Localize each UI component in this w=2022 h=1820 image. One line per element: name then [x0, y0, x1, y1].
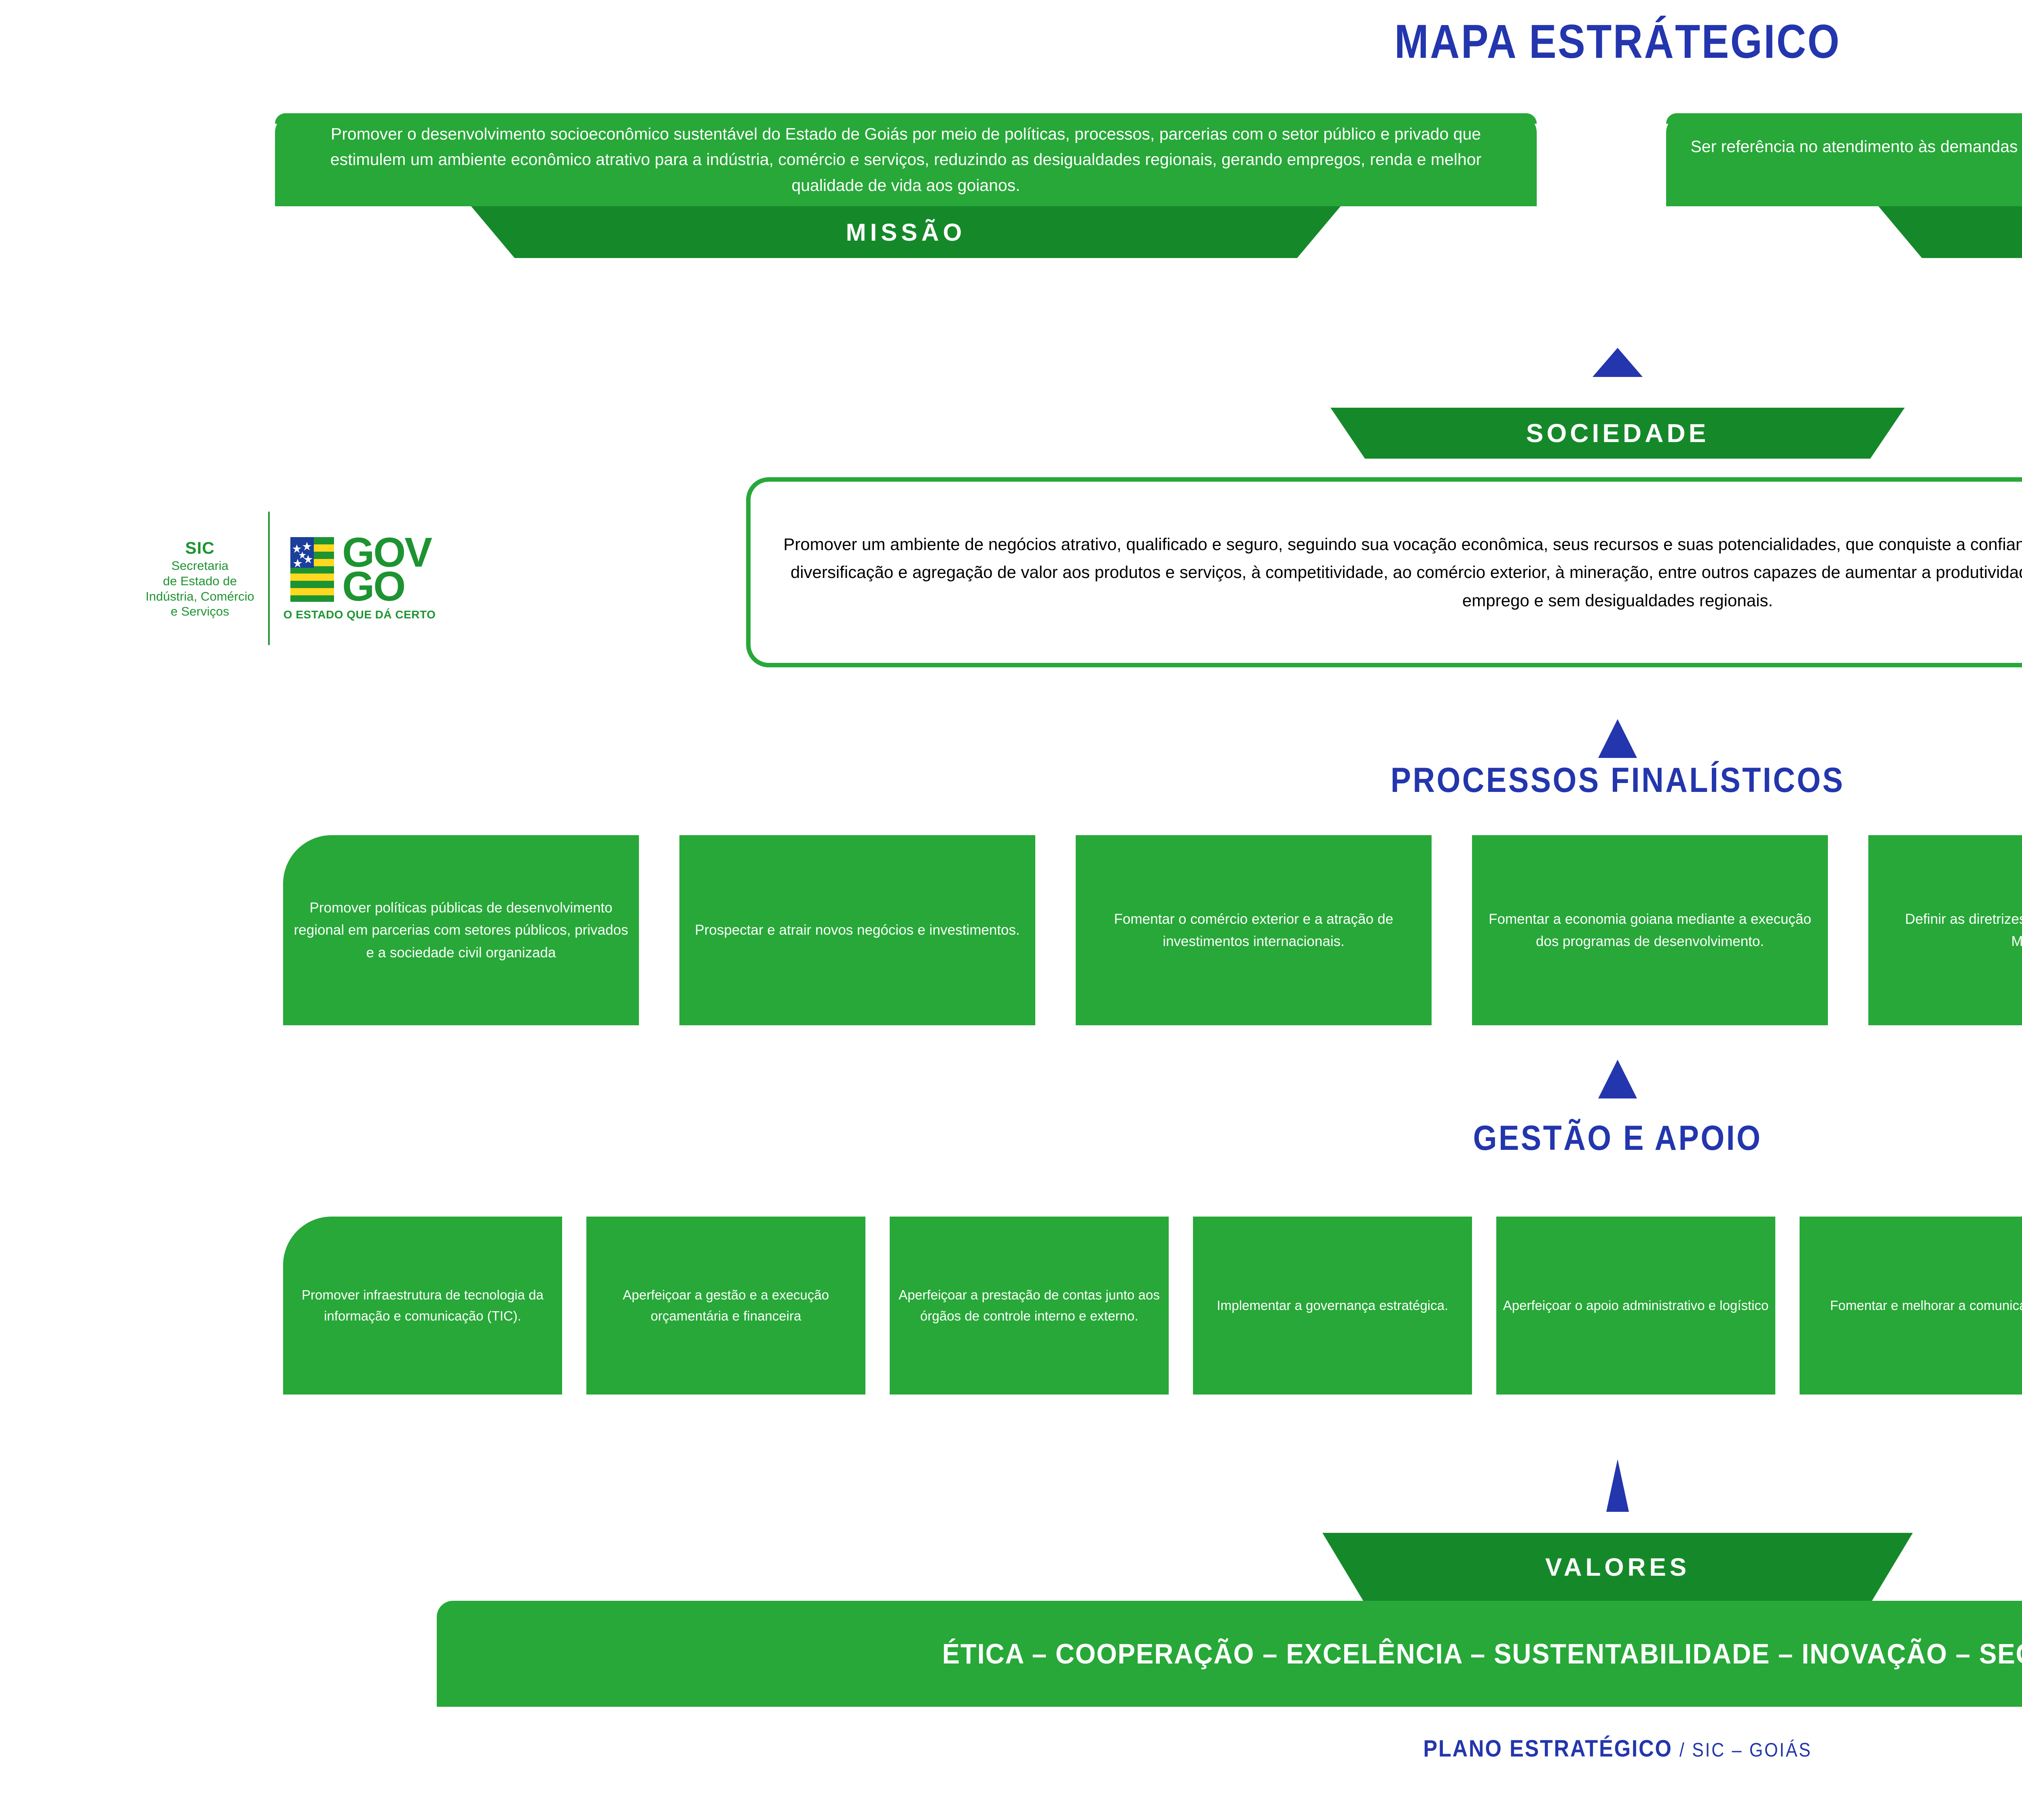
processos-row: Promover políticas públicas de desenvolv…: [283, 835, 2022, 1025]
mission-block: Promover o desenvolvimento socioeconômic…: [275, 113, 1537, 258]
processo-pillar-5-text: Definir as diretrizes para Política Esta…: [1875, 908, 2022, 953]
mission-banner-label: MISSÃO: [846, 218, 966, 246]
gestao-pillar-3[interactable]: Aperfeiçoar a prestação de contas junto …: [890, 1217, 1169, 1395]
sic-line-1: Secretaria: [146, 558, 254, 574]
sociedade-text: Promover um ambiente de negócios atrativ…: [776, 530, 2022, 614]
vision-banner: VISÃO: [1878, 206, 2022, 258]
gestao-header: GESTÃO E APOIO: [194, 1118, 2022, 1158]
footer-caption: PLANO ESTRATÉGICO / SIC – GOIÁS: [162, 1735, 2022, 1762]
sociedade-banner: SOCIEDADE: [1330, 408, 1905, 459]
processo-pillar-2[interactable]: Prospectar e atrair novos negócios e inv…: [679, 835, 1035, 1025]
gestao-pillar-4[interactable]: Implementar a governança estratégica.: [1193, 1217, 1472, 1395]
gestao-pillar-5-text: Aperfeiçoar o apoio administrativo e log…: [1503, 1295, 1769, 1316]
processo-pillar-3[interactable]: Fomentar o comércio exterior e a atração…: [1076, 835, 1432, 1025]
gestao-pillar-1-text: Promover infraestrutura de tecnologia da…: [290, 1285, 556, 1327]
govgo-row-left: GOV GO: [288, 535, 431, 604]
mission-banner: MISSÃO: [471, 206, 1341, 258]
arrow-up-to-processos: [1598, 719, 1637, 758]
processo-pillar-4-text: Fomentar a economia goiana mediante a ex…: [1478, 908, 1821, 953]
processos-header: PROCESSOS FINALÍSTICOS: [194, 760, 2022, 800]
processo-pillar-1-text: Promover políticas públicas de desenvolv…: [290, 897, 632, 964]
mission-box: Promover o desenvolvimento socioeconômic…: [275, 113, 1537, 206]
processo-pillar-4[interactable]: Fomentar a economia goiana mediante a ex…: [1472, 835, 1828, 1025]
arrow-up-to-gestao: [1598, 1060, 1637, 1098]
sic-acronym: SIC: [146, 538, 254, 558]
footer-suffix: / SIC – GOIÁS: [1679, 1740, 1812, 1761]
valores-banner-label: VALORES: [1545, 1553, 1690, 1582]
gestao-row: Promover infraestrutura de tecnologia da…: [283, 1217, 2022, 1395]
valores-text: ÉTICA – COOPERAÇÃO – EXCELÊNCIA – SUSTEN…: [942, 1638, 2022, 1670]
vision-box: Ser referência no atendimento às demanda…: [1666, 113, 2022, 206]
gestao-pillar-6[interactable]: Fomentar e melhorar a comunicação: [1800, 1217, 2022, 1395]
sociedade-box: Promover um ambiente de negócios atrativ…: [746, 477, 2022, 667]
mission-text: Promover o desenvolvimento socioeconômic…: [296, 121, 1516, 199]
sociedade-banner-label: SOCIEDADE: [1526, 418, 1709, 448]
govgo-logo-left: GOV GO O ESTADO QUE DÁ CERTO: [283, 535, 436, 622]
sic-line-3: Indústria, Comércio: [146, 589, 254, 604]
arrow-up-to-valores: [1606, 1459, 1629, 1512]
vision-block: Ser referência no atendimento às demanda…: [1666, 113, 2022, 258]
strategic-map-canvas: MAPA ESTRÁTEGICO Promover o desenvolvime…: [0, 0, 2022, 1820]
sic-line-4: e Serviços: [146, 604, 254, 619]
page-title: MAPA ESTRÁTEGICO: [226, 14, 2022, 69]
govgo-wordmark-left: GOV GO: [342, 535, 431, 604]
goias-flag-icon: [288, 535, 340, 603]
gestao-pillar-2-text: Aperfeiçoar a gestão e a execução orçame…: [593, 1285, 859, 1327]
valores-banner: VALORES: [1322, 1533, 1913, 1602]
vision-text: Ser referência no atendimento às demanda…: [1687, 134, 2022, 185]
processo-pillar-1[interactable]: Promover políticas públicas de desenvolv…: [283, 835, 639, 1025]
gestao-pillar-2[interactable]: Aperfeiçoar a gestão e a execução orçame…: [586, 1217, 865, 1395]
processo-pillar-2-text: Prospectar e atrair novos negócios e inv…: [695, 919, 1019, 941]
footer-main: PLANO ESTRATÉGICO: [1423, 1735, 1672, 1762]
sic-text-block-left: SIC Secretaria de Estado de Indústria, C…: [146, 538, 254, 619]
gestao-pillar-6-text: Fomentar e melhorar a comunicação: [1830, 1295, 2022, 1316]
processo-pillar-5[interactable]: Definir as diretrizes para Política Esta…: [1868, 835, 2022, 1025]
arrow-up-to-sociedade: [1593, 348, 1643, 377]
gestao-pillar-3-text: Aperfeiçoar a prestação de contas junto …: [896, 1285, 1162, 1327]
gestao-pillar-5[interactable]: Aperfeiçoar o apoio administrativo e log…: [1496, 1217, 1775, 1395]
gestao-pillar-1[interactable]: Promover infraestrutura de tecnologia da…: [283, 1217, 562, 1395]
govgo-slogan-left: O ESTADO QUE DÁ CERTO: [283, 608, 436, 621]
logo-lockup-left: SIC Secretaria de Estado de Indústria, C…: [146, 497, 436, 659]
sic-line-2: de Estado de: [146, 574, 254, 589]
processo-pillar-3-text: Fomentar o comércio exterior e a atração…: [1082, 908, 1425, 953]
valores-bar: ÉTICA – COOPERAÇÃO – EXCELÊNCIA – SUSTEN…: [437, 1601, 2022, 1707]
gestao-pillar-4-text: Implementar a governança estratégica.: [1217, 1295, 1448, 1316]
logo-divider-left: [268, 512, 270, 645]
